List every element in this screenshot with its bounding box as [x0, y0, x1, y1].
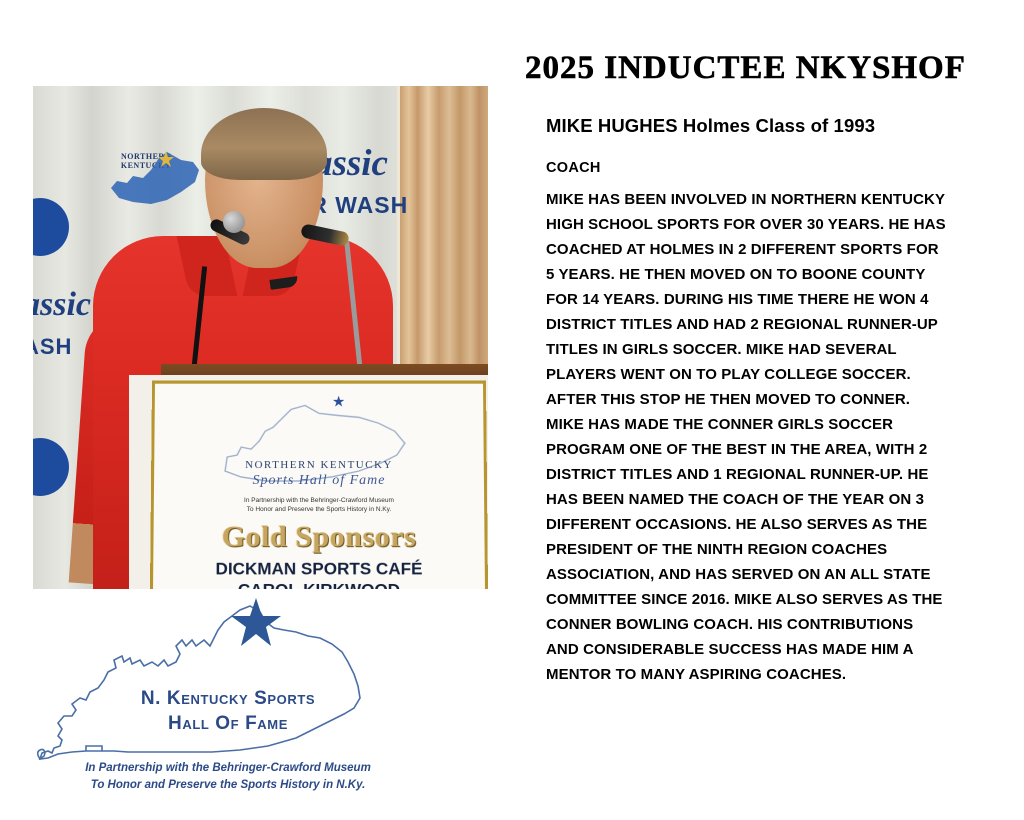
- sign-title-line2: Sports Hall of Fame: [154, 473, 484, 489]
- logo-tagline: In Partnership with the Behringer-Crawfo…: [28, 760, 428, 795]
- logo-tagline-line2: To Honor and Preserve the Sports History…: [91, 779, 366, 791]
- logo-tagline-line1: In Partnership with the Behringer-Crawfo…: [85, 762, 371, 774]
- sign-tagline-line2: To Honor and Preserve the Sports History…: [247, 506, 392, 513]
- backdrop-kentucky-shape-top: [107, 148, 205, 210]
- page-title: 2025 INDUCTEE NKYSHOF: [525, 52, 1020, 85]
- inductee-biography: MIKE HAS BEEN INVOLVED IN NORTHERN KENTU…: [546, 187, 946, 687]
- inductee-profile-page: NORTHERN KENTUCKY NORTHERN KENTUCKY Clas…: [0, 0, 1024, 820]
- nky-sports-hall-of-fame-logo: N. Kentucky Sports Hall Of Fame In Partn…: [28, 596, 428, 806]
- microphone-head-primary: [223, 211, 245, 233]
- logo-star-icon: [231, 598, 281, 646]
- backdrop-carwash-wordmark-lower: ASH: [33, 334, 72, 360]
- backdrop-classic-wordmark-lower: assic: [33, 286, 91, 324]
- sign-sponsor-2: CAROL KIRKWOOD: [153, 580, 485, 589]
- inductee-role-label: COACH: [546, 160, 601, 176]
- logo-title-line1: N. Kentucky Sports: [28, 688, 428, 710]
- sign-tagline: In Partnership with the Behringer-Crawfo…: [154, 496, 485, 514]
- sign-gold-sponsors-heading: Gold Sponsors: [153, 520, 484, 554]
- gold-sponsors-sign: ★ NORTHERN KENTUCKY Sports Hall of Fame …: [150, 381, 488, 589]
- logo-title-line2: Hall Of Fame: [28, 713, 428, 735]
- inductee-name-heading: MIKE HUGHES Holmes Class of 1993: [546, 115, 1016, 137]
- sign-sponsor-1: DICKMAN SPORTS CAFÉ: [153, 559, 485, 579]
- kentucky-outline-icon: [28, 596, 428, 766]
- sign-star-icon: ★: [332, 395, 345, 410]
- sign-title-line1: NORTHERN KENTUCKY: [154, 459, 484, 471]
- inductee-photo: NORTHERN KENTUCKY NORTHERN KENTUCKY Clas…: [33, 86, 488, 589]
- inductee-details-column: 2025 INDUCTEE NKYSHOF MIKE HUGHES Holmes…: [519, 0, 1024, 820]
- sign-tagline-line1: In Partnership with the Behringer-Crawfo…: [244, 497, 394, 504]
